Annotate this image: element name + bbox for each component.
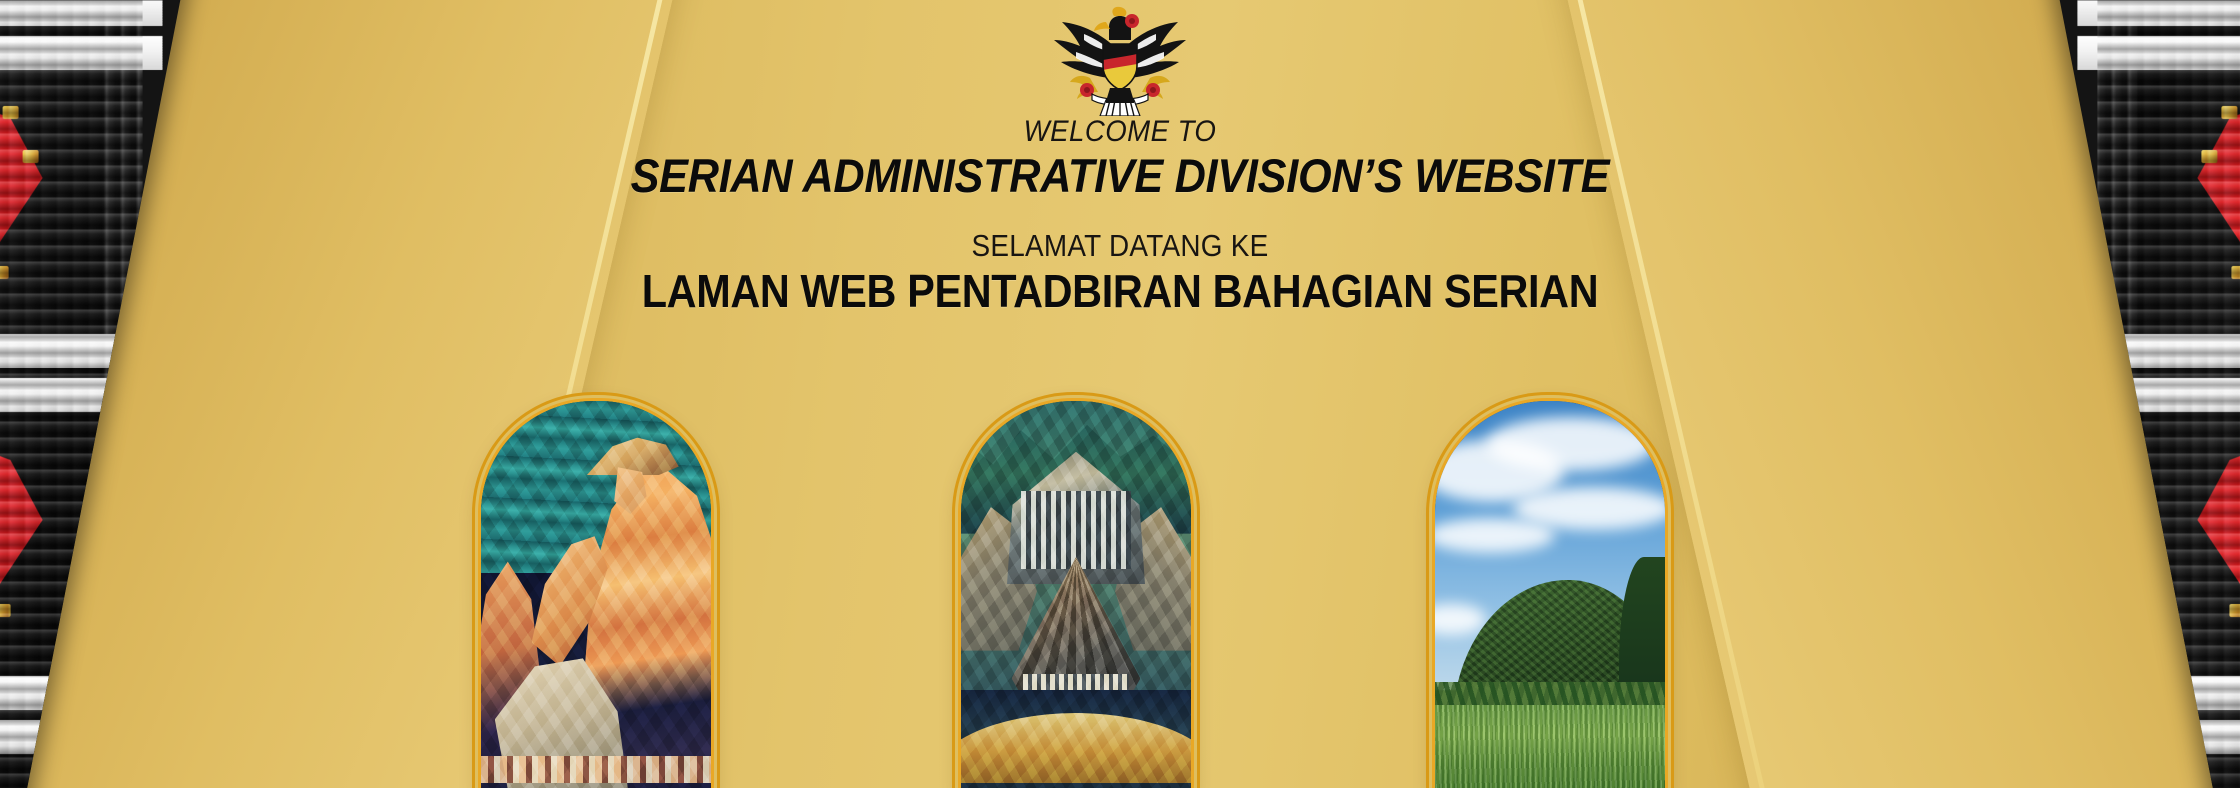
welcome-line-english: WELCOME TO [90,116,2151,148]
beadwork-white-band [2077,0,2240,26]
arch-administrative-building-image [961,401,1191,788]
arch-forested-hill[interactable] [1432,398,1668,788]
beadwork-white-band [2077,36,2240,70]
sarawak-coat-of-arms-icon [1040,4,1200,116]
low-poly-overlay [961,401,1191,788]
arch-image-row [0,398,2240,788]
beadwork-white-band [0,36,163,70]
welcome-banner: WELCOME TO SERIAN ADMINISTRATIVE DIVISIO… [0,0,2240,788]
banner-headings: WELCOME TO SERIAN ADMINISTRATIVE DIVISIO… [0,116,2240,317]
arch-traditional-dancers[interactable] [478,398,714,788]
hill-cloud [1432,518,1555,553]
site-title-english: SERIAN ADMINISTRATIVE DIVISION’S WEBSITE [90,150,2151,203]
hill-cloud [1486,417,1656,472]
arch-forested-hill-image [1435,401,1665,788]
grass-texture [1435,705,1665,788]
welcome-line-malay: SELAMAT DATANG KE [112,230,2128,263]
arch-administrative-building[interactable] [958,398,1194,788]
site-title-malay: LAMAN WEB PENTADBIRAN BAHAGIAN SERIAN [112,266,2128,318]
low-poly-overlay [481,401,711,788]
beadwork-white-band [0,0,163,26]
arch-traditional-dancers-image [481,401,711,788]
